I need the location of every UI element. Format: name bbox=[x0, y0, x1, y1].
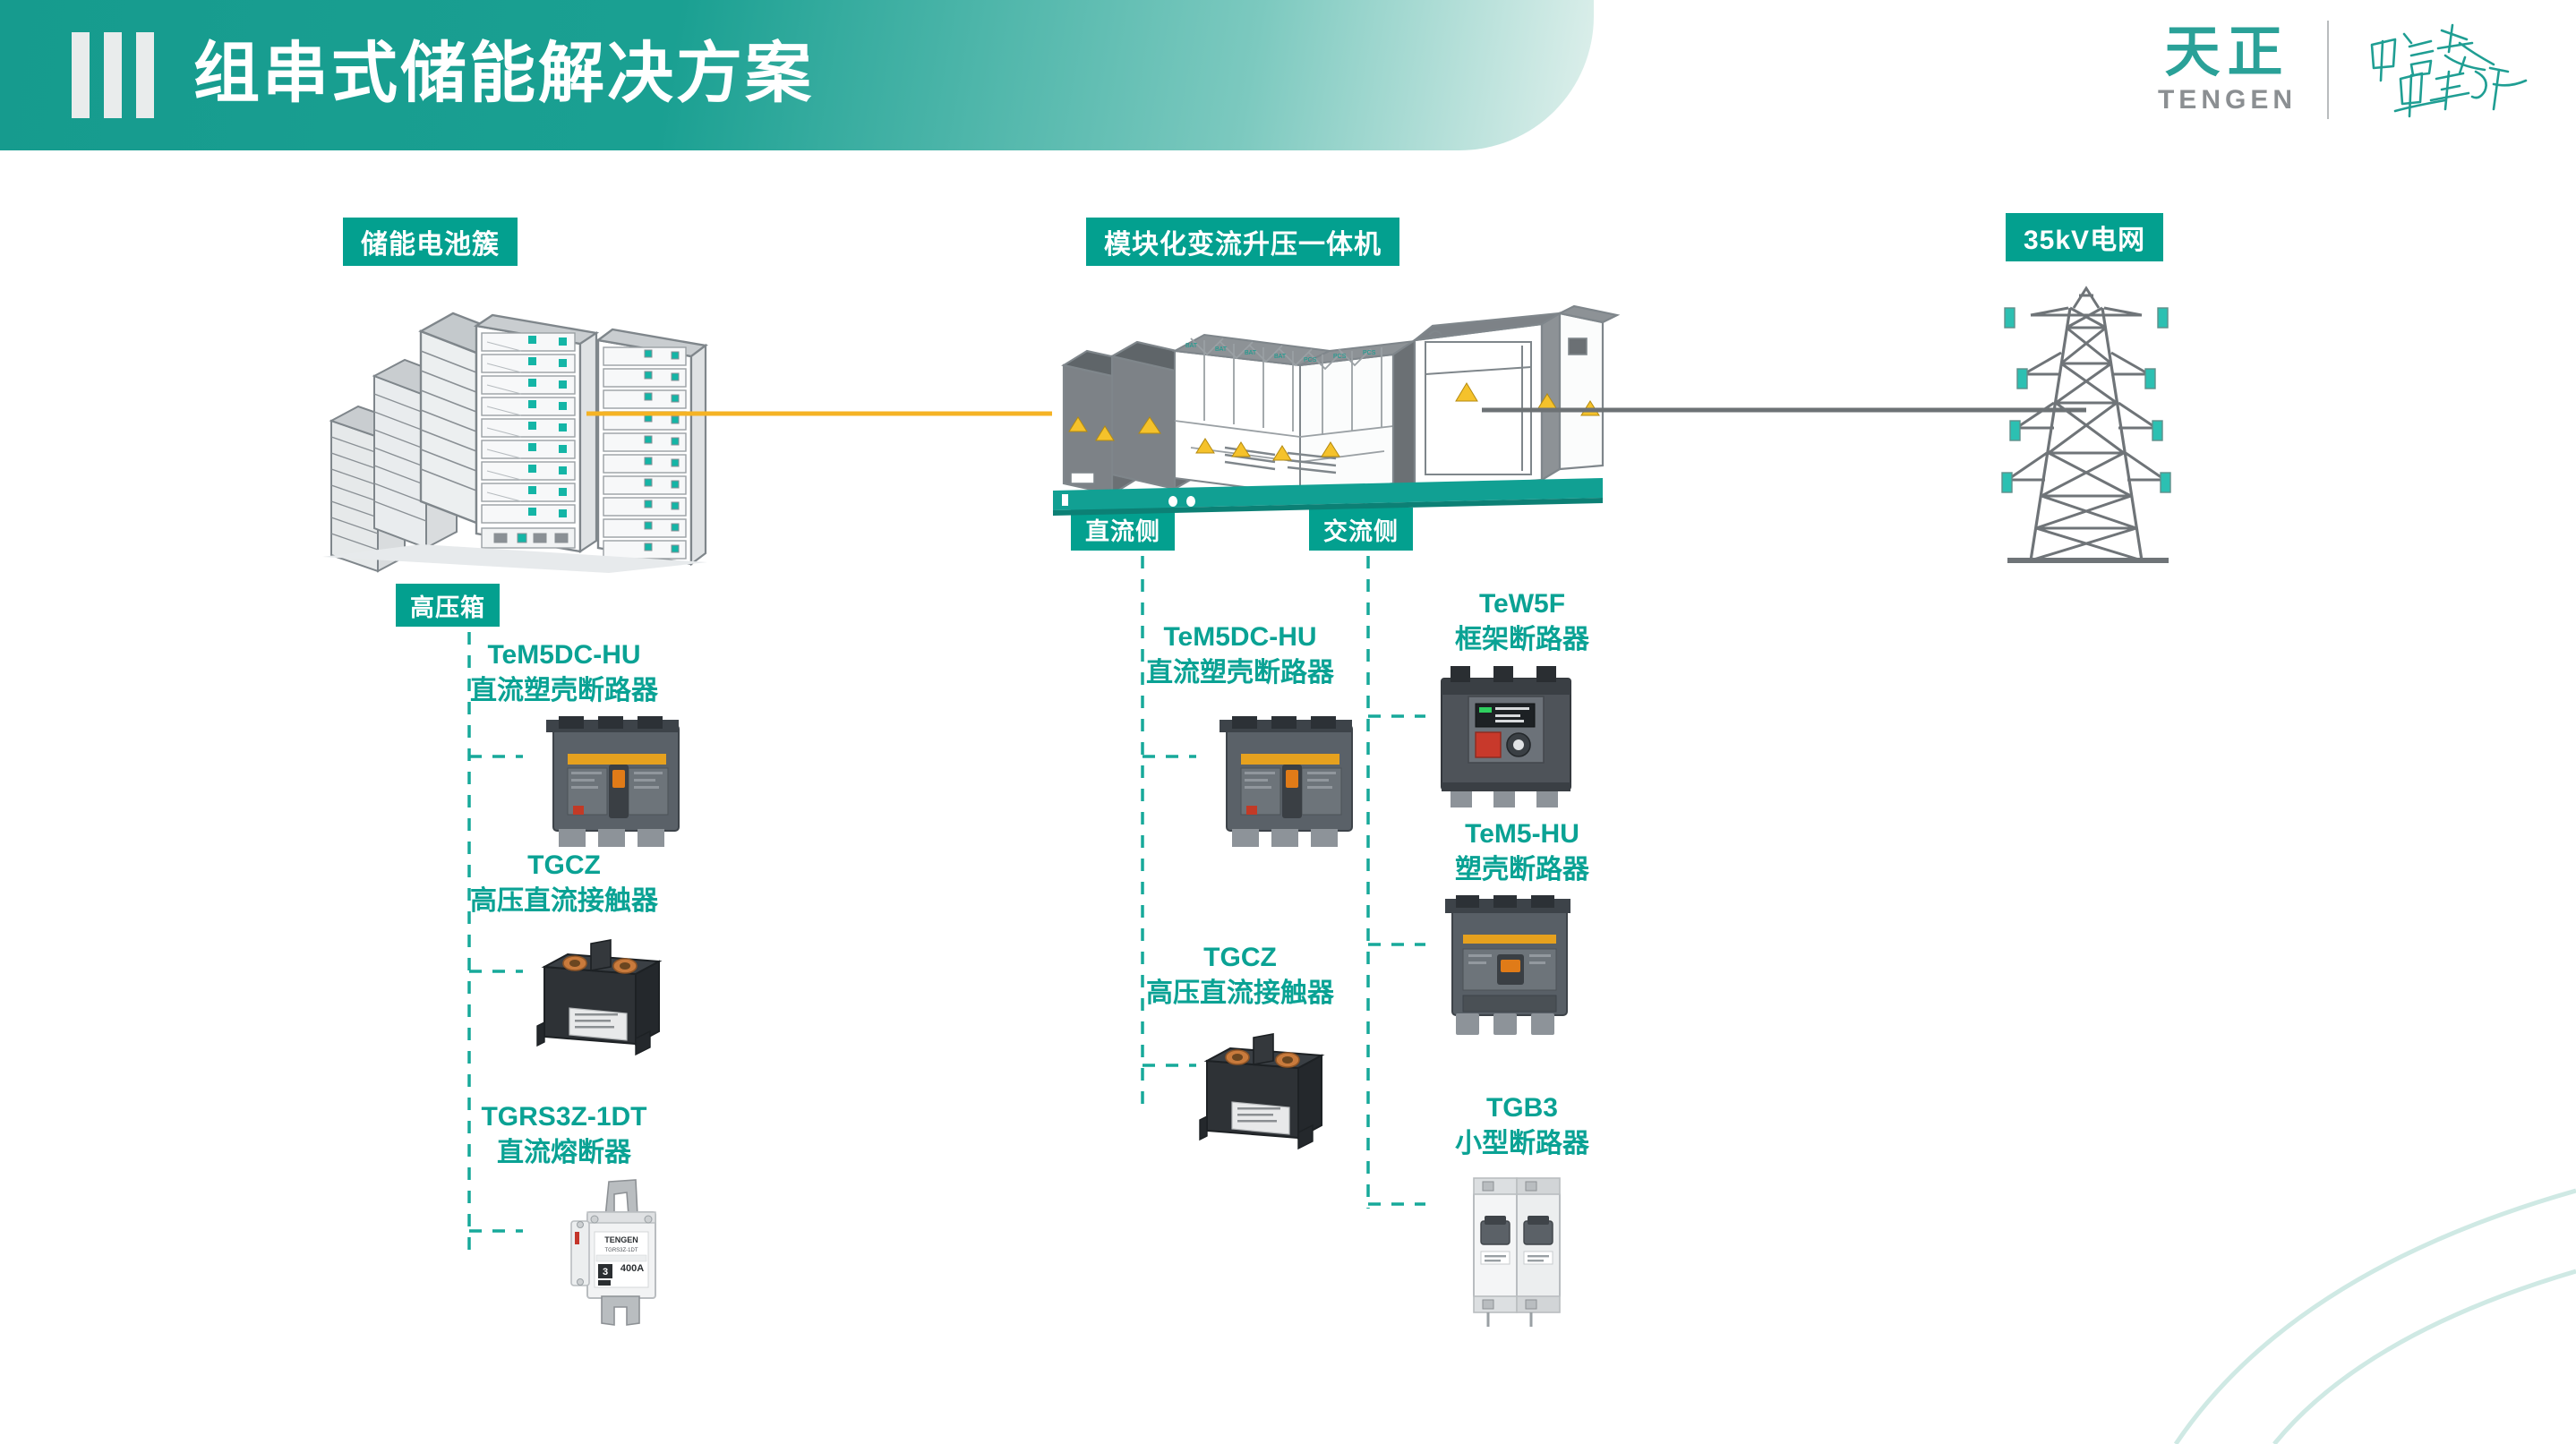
svg-text:3: 3 bbox=[603, 1267, 608, 1277]
product-image-contactor-left bbox=[537, 940, 659, 1055]
product-label-left-2: TGRS3Z-1DT 直流熔断器 bbox=[421, 1099, 707, 1171]
svg-text:PCS: PCS bbox=[1333, 354, 1347, 360]
svg-text:PCS: PCS bbox=[1363, 350, 1376, 356]
handwritten-tagline-icon bbox=[2359, 16, 2538, 124]
product-image-mccb-dc-middle bbox=[1220, 716, 1352, 847]
page-title: 组串式储能解决方案 bbox=[193, 27, 814, 120]
svg-text:BAT: BAT bbox=[1274, 354, 1287, 360]
logo-mark: 天正 TENGEN bbox=[2158, 23, 2297, 116]
diagram-illustrations: BATBAT BATBAT PCSPCS PCS bbox=[0, 0, 2576, 1444]
product-label-left-1: TGCZ 高压直流接触器 bbox=[421, 848, 707, 919]
sublabel-hv-box: 高压箱 bbox=[396, 584, 500, 627]
svg-text:BAT: BAT bbox=[1215, 346, 1228, 353]
product-image-mcb bbox=[1474, 1178, 1560, 1327]
battery-rack-cluster bbox=[322, 313, 707, 573]
svg-text:BAT: BAT bbox=[1245, 350, 1257, 356]
pcs-container: BATBAT BATBAT PCSPCS PCS bbox=[1053, 306, 1617, 516]
product-image-mccb-ac bbox=[1445, 895, 1570, 1035]
product-image-dc-fuse: TENGEN TGRS3Z-1DT 3 400A bbox=[571, 1180, 655, 1325]
svg-text:TENGEN: TENGEN bbox=[604, 1235, 638, 1244]
product-image-contactor-middle bbox=[1200, 1034, 1322, 1149]
product-image-acb bbox=[1442, 666, 1570, 807]
section-label-battery: 储能电池簇 bbox=[343, 218, 518, 266]
product-label-right-2: TGB3 小型断路器 bbox=[1379, 1090, 1665, 1162]
logo-divider bbox=[2327, 21, 2329, 119]
page-header: 组串式储能解决方案 bbox=[0, 0, 1594, 150]
decorative-arcs bbox=[2176, 1191, 2576, 1444]
product-label-left-0: TeM5DC-HU 直流塑壳断路器 bbox=[421, 637, 707, 709]
product-label-middle-1: TGCZ 高压直流接触器 bbox=[1097, 940, 1383, 1012]
sublabel-ac-side: 交流侧 bbox=[1309, 508, 1413, 551]
product-image-mccb-dc-left bbox=[546, 716, 679, 847]
product-label-right-1: TeM5-HU 塑壳断路器 bbox=[1379, 816, 1665, 888]
sublabel-dc-side: 直流侧 bbox=[1071, 508, 1175, 551]
svg-text:400A: 400A bbox=[620, 1263, 644, 1274]
brand-logo: 天正 TENGEN bbox=[2158, 16, 2538, 124]
svg-text:TGRS3Z-1DT: TGRS3Z-1DT bbox=[604, 1248, 638, 1253]
transmission-tower bbox=[2002, 288, 2170, 560]
section-label-pcs: 模块化变流升压一体机 bbox=[1086, 218, 1399, 266]
svg-text:BAT: BAT bbox=[1185, 343, 1198, 349]
three-bars-icon bbox=[72, 32, 154, 118]
logo-chinese-name: 天正 bbox=[2164, 23, 2289, 82]
section-label-grid: 35kV电网 bbox=[2006, 213, 2163, 261]
product-label-middle-0: TeM5DC-HU 直流塑壳断路器 bbox=[1097, 619, 1383, 691]
warning-triangle-icons bbox=[1069, 383, 1599, 460]
logo-english-name: TENGEN bbox=[2158, 84, 2297, 116]
product-label-right-0: TeW5F 框架断路器 bbox=[1379, 586, 1665, 658]
svg-text:PCS: PCS bbox=[1304, 357, 1317, 363]
